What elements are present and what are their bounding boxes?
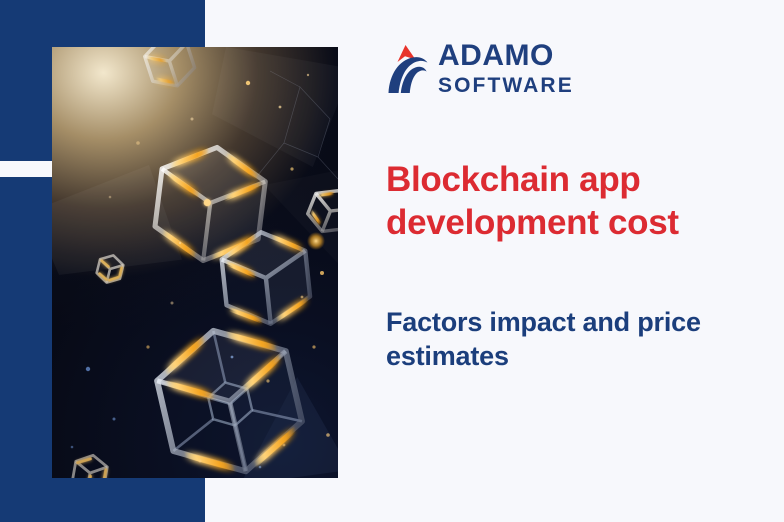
hero-blockchain-cubes-illustration <box>52 47 338 478</box>
navy-panel-notch <box>0 161 53 177</box>
brand-logo[interactable]: ADAMO SOFTWARE <box>385 41 574 96</box>
adamo-a-swoosh-icon <box>385 43 429 95</box>
content-column: ADAMO SOFTWARE Blockchain app developmen… <box>385 0 725 522</box>
page-title: Blockchain app development cost <box>386 158 716 244</box>
page-subtitle: Factors impact and price estimates <box>386 305 716 373</box>
hero-image-card <box>52 47 338 478</box>
poster-canvas: ADAMO SOFTWARE Blockchain app developmen… <box>0 0 784 522</box>
brand-name-primary: ADAMO <box>438 41 574 71</box>
brand-name-secondary: SOFTWARE <box>438 75 574 96</box>
